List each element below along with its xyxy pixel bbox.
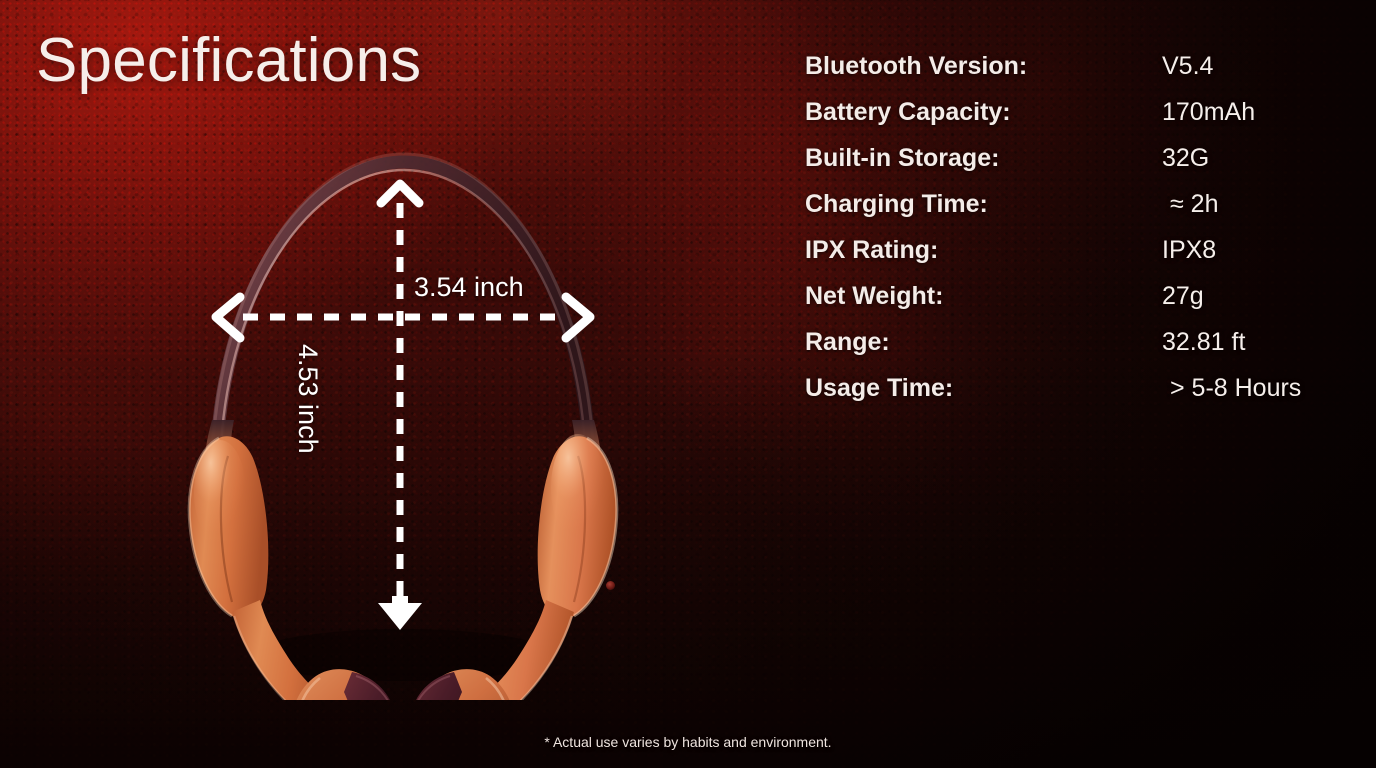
spec-row-charging-time: Charging Time: ≈ 2h [805, 190, 1345, 236]
spec-label: Net Weight: [805, 282, 1162, 311]
spec-row-built-in-storage: Built-in Storage: 32G [805, 144, 1345, 190]
spec-label: Charging Time: [805, 190, 1162, 219]
spec-value: 170mAh [1162, 98, 1255, 127]
page-title: Specifications [36, 30, 421, 92]
spec-label: IPX Rating: [805, 236, 1162, 265]
spec-value: V5.4 [1162, 52, 1213, 81]
spec-value: ≈ 2h [1162, 190, 1218, 219]
specifications-slide: Specifications [0, 0, 1376, 768]
spec-row-battery-capacity: Battery Capacity: 170mAh [805, 98, 1345, 144]
spec-value: 32.81 ft [1162, 328, 1245, 357]
product-image [120, 120, 680, 700]
spec-row-range: Range: 32.81 ft [805, 328, 1345, 374]
spec-label: Bluetooth Version: [805, 52, 1162, 81]
spec-row-bluetooth-version: Bluetooth Version: V5.4 [805, 52, 1345, 98]
specifications-list: Bluetooth Version: V5.4 Battery Capacity… [805, 52, 1345, 420]
spec-value: 27g [1162, 282, 1204, 311]
spec-row-ipx-rating: IPX Rating: IPX8 [805, 236, 1345, 282]
spec-value: 32G [1162, 144, 1209, 173]
spec-label: Battery Capacity: [805, 98, 1162, 127]
footnote: * Actual use varies by habits and enviro… [0, 734, 1376, 750]
spec-label: Built-in Storage: [805, 144, 1162, 173]
spec-value: > 5-8 Hours [1162, 374, 1301, 403]
spec-row-net-weight: Net Weight: 27g [805, 282, 1345, 328]
spec-label: Range: [805, 328, 1162, 357]
spec-row-usage-time: Usage Time: > 5-8 Hours [805, 374, 1345, 420]
spec-label: Usage Time: [805, 374, 1162, 403]
spec-value: IPX8 [1162, 236, 1216, 265]
